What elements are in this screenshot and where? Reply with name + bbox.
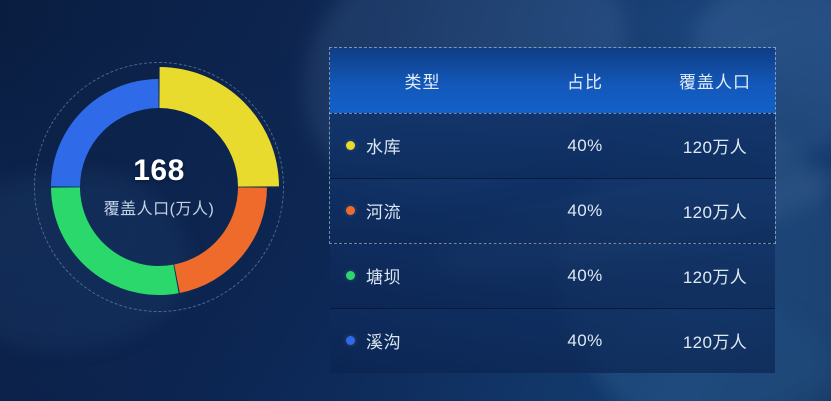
cell-percent: 40% <box>515 136 655 156</box>
legend-dot-icon <box>346 206 355 215</box>
table-row[interactable]: 水库 40% 120万人 <box>330 113 775 178</box>
cell-population: 120万人 <box>655 198 775 223</box>
table-row[interactable]: 河流 40% 120万人 <box>330 178 775 243</box>
cell-type: 水库 <box>330 133 515 158</box>
cell-percent: 40% <box>515 201 655 221</box>
cell-percent: 40% <box>515 266 655 286</box>
dashboard-panel: 168 覆盖人口(万人) 类型 占比 覆盖人口 水库 40% <box>0 0 831 401</box>
cell-population: 120万人 <box>655 263 775 288</box>
cell-type: 河流 <box>330 198 515 223</box>
donut-chart[interactable]: 168 覆盖人口(万人) <box>34 62 284 312</box>
cell-population: 120万人 <box>655 328 775 353</box>
table-row[interactable]: 塘坝 40% 120万人 <box>330 243 775 308</box>
column-header-population: 覆盖人口 <box>655 68 775 93</box>
cell-type: 溪沟 <box>330 328 515 353</box>
donut-slice-水库[interactable] <box>159 67 279 187</box>
donut-slice-塘坝[interactable] <box>51 187 179 295</box>
cell-type-label: 溪沟 <box>366 328 401 353</box>
table-row[interactable]: 溪沟 40% 120万人 <box>330 308 775 373</box>
legend-dot-icon <box>346 141 355 150</box>
cell-type: 塘坝 <box>330 263 515 288</box>
cell-type-label: 水库 <box>366 133 401 158</box>
legend-dot-icon <box>346 271 355 280</box>
column-header-type: 类型 <box>330 68 515 93</box>
cell-type-label: 塘坝 <box>366 263 401 288</box>
table-header-row: 类型 占比 覆盖人口 <box>330 48 775 113</box>
donut-slice-河流[interactable] <box>174 187 267 293</box>
donut-segments[interactable] <box>34 62 284 312</box>
donut-slice-溪沟[interactable] <box>51 79 159 187</box>
legend-dot-icon <box>346 336 355 345</box>
cell-population: 120万人 <box>655 133 775 158</box>
cell-type-label: 河流 <box>366 198 401 223</box>
cell-percent: 40% <box>515 331 655 351</box>
column-header-percent: 占比 <box>515 68 655 93</box>
coverage-table: 类型 占比 覆盖人口 水库 40% 120万人 河流 <box>330 48 775 373</box>
